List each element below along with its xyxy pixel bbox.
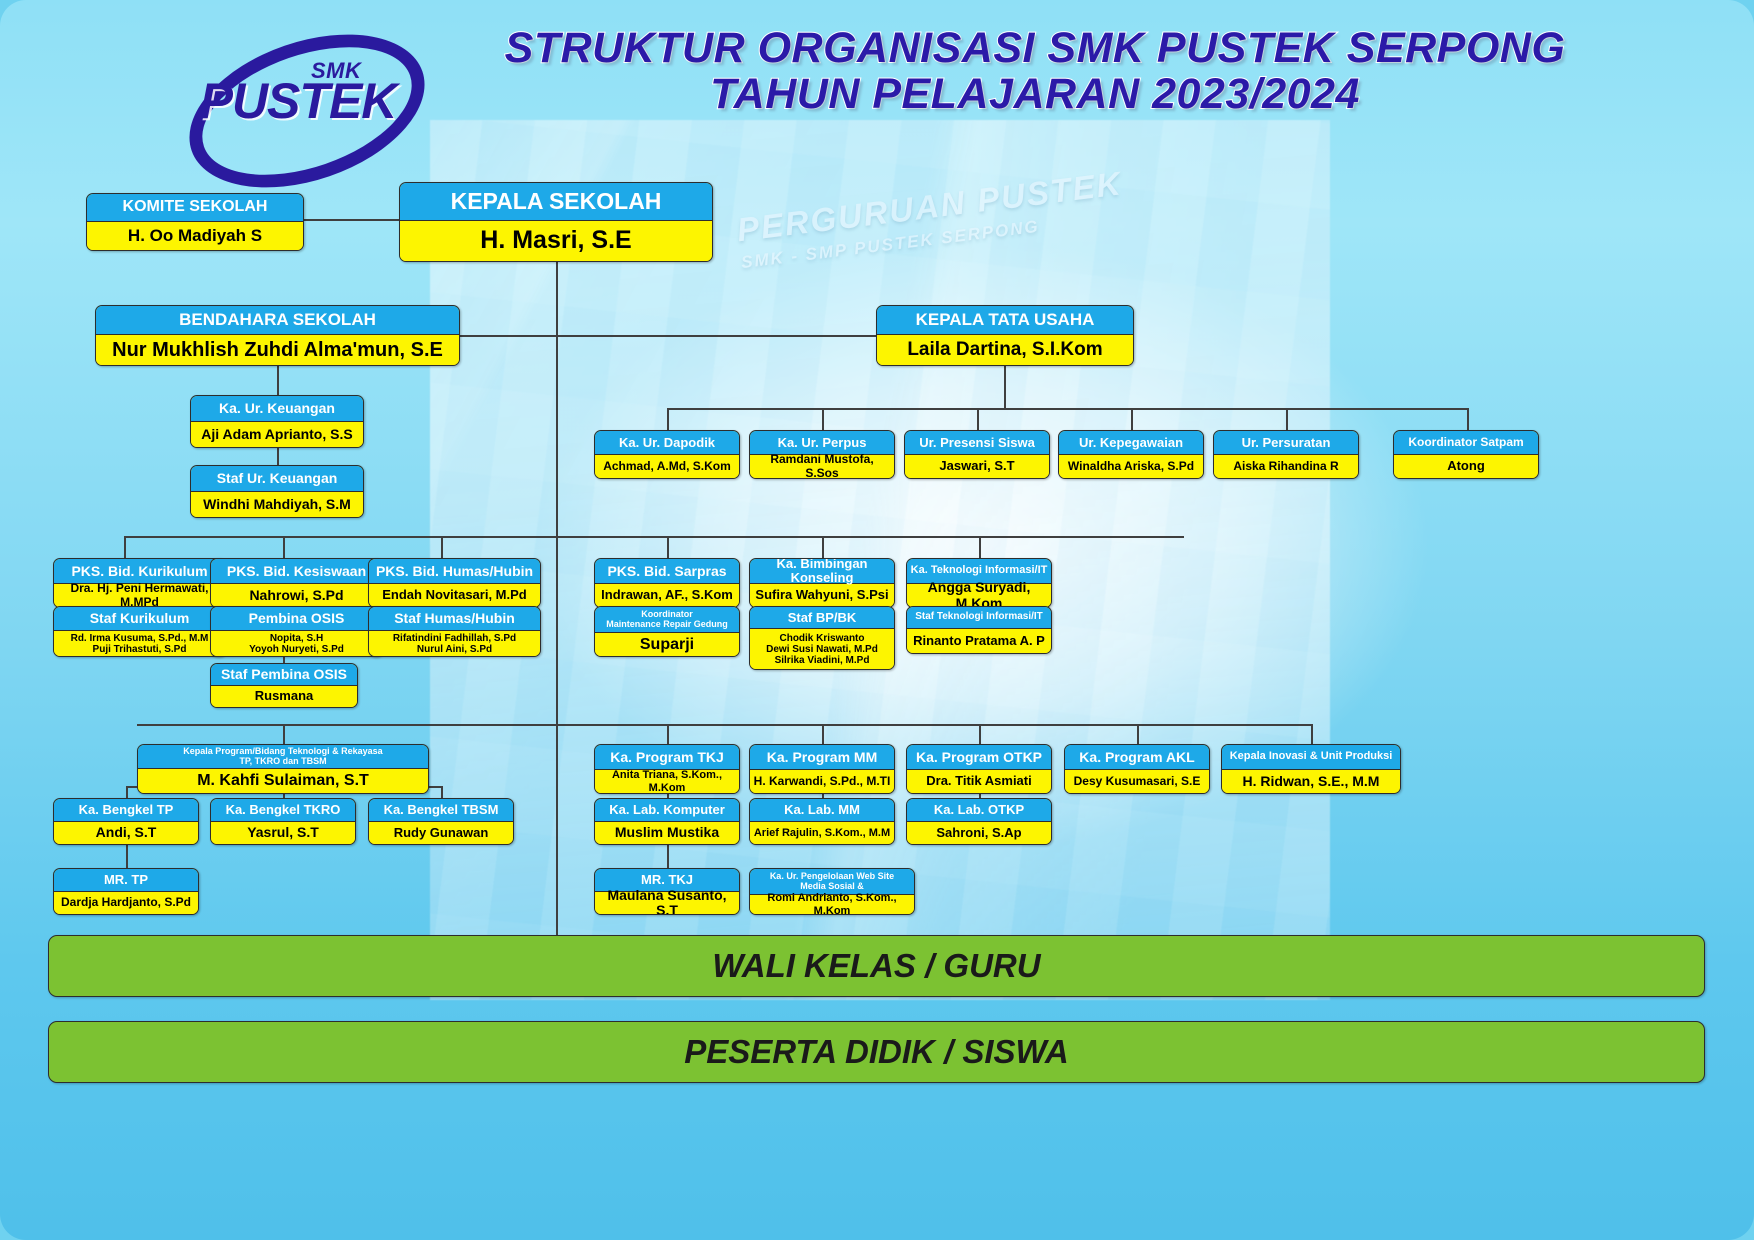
node-ka-bengkel-tp[interactable]: Ka. Bengkel TP Andi, S.T <box>53 798 199 845</box>
node-name: Anita Triana, S.Kom., M.Kom <box>595 770 739 793</box>
node-name: Indrawan, AF., S.Kom <box>595 584 739 607</box>
node-ka-lab-mm[interactable]: Ka. Lab. MM Arief Rajulin, S.Kom., M.M <box>749 798 895 845</box>
connector <box>1137 724 1139 744</box>
node-ur-presensi-siswa[interactable]: Ur. Presensi Siswa Jaswari, S.T <box>904 430 1050 479</box>
node-ur-kepegawaian[interactable]: Ur. Kepegawaian Winaldha Ariska, S.Pd <box>1058 430 1204 479</box>
node-pks-sarpras[interactable]: PKS. Bid. Sarpras Indrawan, AF., S.Kom <box>594 558 740 608</box>
node-title: Ka. Bengkel TKRO <box>211 799 355 822</box>
node-ka-ur-perpus[interactable]: Ka. Ur. Perpus Ramdani Mustofa, S.Sos <box>749 430 895 479</box>
node-name: Sahroni, S.Ap <box>907 822 1051 844</box>
band-wali-kelas-guru[interactable]: WALI KELAS / GURU <box>48 935 1705 997</box>
node-title: Staf Kurikulum <box>54 607 225 631</box>
connector <box>277 448 279 465</box>
node-title: Ur. Presensi Siswa <box>905 431 1049 455</box>
connector <box>283 536 285 558</box>
node-ka-bengkel-tbsm[interactable]: Ka. Bengkel TBSM Rudy Gunawan <box>368 798 514 845</box>
node-name-line: Silrika Viadini, M.Pd <box>775 655 870 666</box>
node-kepala-tata-usaha[interactable]: KEPALA TATA USAHA Laila Dartina, S.I.Kom <box>876 305 1134 366</box>
node-pembina-osis[interactable]: Pembina OSIS Nopita, S.H Yoyoh Nuryeti, … <box>210 606 383 657</box>
connector <box>667 724 669 744</box>
org-chart-canvas: PERGURUAN PUSTEK SMK - SMP PUSTEK SERPON… <box>0 0 1754 1240</box>
node-pks-humas-hubin[interactable]: PKS. Bid. Humas/Hubin Endah Novitasari, … <box>368 558 541 608</box>
connector <box>667 408 669 430</box>
node-name: Dardja Hardjanto, S.Pd <box>54 892 198 914</box>
connector <box>1286 408 1288 430</box>
node-staf-pembina-osis[interactable]: Staf Pembina OSIS Rusmana <box>210 663 358 708</box>
node-title: Koordinator Satpam <box>1394 431 1538 455</box>
page-title-line2: TAHUN PELAJARAN 2023/2024 <box>420 72 1650 118</box>
page-title: STRUKTUR ORGANISASI SMK PUSTEK SERPONG T… <box>420 26 1650 117</box>
node-name: Maulana Susanto, S.T <box>595 892 739 914</box>
node-name: Andi, S.T <box>54 822 198 844</box>
node-title: PKS. Bid. Humas/Hubin <box>369 559 540 584</box>
node-name: Atong <box>1394 455 1538 478</box>
node-name-line: Yoyoh Nuryeti, S.Pd <box>249 644 344 655</box>
node-name: Muslim Mustika <box>595 822 739 844</box>
node-ka-ur-keuangan[interactable]: Ka. Ur. Keuangan Aji Adam Aprianto, S.S <box>190 395 364 448</box>
connector <box>460 335 876 337</box>
node-ka-teknologi-informasi[interactable]: Ka. Teknologi Informasi/IT Angga Suryadi… <box>906 558 1052 608</box>
node-title: Ka. Program OTKP <box>907 745 1051 770</box>
node-name: Nahrowi, S.Pd <box>211 584 382 607</box>
node-ur-persuratan[interactable]: Ur. Persuratan Aiska Rihandina R <box>1213 430 1359 479</box>
node-kepala-inovasi-unit-produksi[interactable]: Kepala Inovasi & Unit Produksi H. Ridwan… <box>1221 744 1401 794</box>
photo-caption: PERGURUAN PUSTEK SMK - SMP PUSTEK SERPON… <box>735 159 1175 321</box>
node-ka-bimbingan-konseling[interactable]: Ka. Bimbingan Konseling Sufira Wahyuni, … <box>749 558 895 608</box>
node-title: Staf Pembina OSIS <box>211 664 357 686</box>
node-name: Aiska Rihandina R <box>1214 455 1358 478</box>
logo-smk-label: SMK <box>311 58 361 84</box>
node-name: Jaswari, S.T <box>905 455 1049 478</box>
node-staf-teknologi-informasi[interactable]: Staf Teknologi Informasi/IT Rinanto Prat… <box>906 606 1052 654</box>
connector <box>124 536 126 558</box>
node-ka-program-tkj[interactable]: Ka. Program TKJ Anita Triana, S.Kom., M.… <box>594 744 740 794</box>
connector <box>1311 724 1313 744</box>
node-name: Sufira Wahyuni, S.Psi <box>750 584 894 607</box>
connector <box>441 536 443 558</box>
connector <box>979 724 981 744</box>
node-name: Rusmana <box>211 686 357 707</box>
node-name: Nopita, S.H Yoyoh Nuryeti, S.Pd <box>211 631 382 656</box>
node-komite-sekolah[interactable]: KOMITE SEKOLAH H. Oo Madiyah S <box>86 193 304 251</box>
band-peserta-didik-siswa[interactable]: PESERTA DIDIK / SISWA <box>48 1021 1705 1083</box>
node-title-line: Media Sosial & <box>800 882 864 891</box>
node-ka-lab-otkp[interactable]: Ka. Lab. OTKP Sahroni, S.Ap <box>906 798 1052 845</box>
node-name: Dra. Titik Asmiati <box>907 770 1051 793</box>
node-ka-program-akl[interactable]: Ka. Program AKL Desy Kusumasari, S.E <box>1064 744 1210 794</box>
node-title: Ka. Ur. Dapodik <box>595 431 739 455</box>
node-ka-lab-komputer[interactable]: Ka. Lab. Komputer Muslim Mustika <box>594 798 740 845</box>
node-name: Rd. Irma Kusuma, S.Pd., M.M Puji Trihast… <box>54 631 225 656</box>
photo-caption-line1: PERGURUAN PUSTEK <box>735 159 1166 249</box>
node-title: Ka. Lab. MM <box>750 799 894 822</box>
node-name-line: Nopita, S.H <box>270 633 323 644</box>
node-name: H. Karwandi, S.Pd., M.TI <box>750 770 894 793</box>
node-name: Laila Dartina, S.I.Kom <box>877 335 1133 365</box>
connector <box>441 786 443 798</box>
node-staf-bp-bk[interactable]: Staf BP/BK Chodik Kriswanto Dewi Susi Na… <box>749 606 895 670</box>
node-name: Endah Novitasari, M.Pd <box>369 584 540 607</box>
node-name: Windhi Mahdiyah, S.M <box>191 492 363 517</box>
connector <box>304 219 402 221</box>
node-bendahara-sekolah[interactable]: BENDAHARA SEKOLAH Nur Mukhlish Zuhdi Alm… <box>95 305 460 366</box>
node-title: KEPALA TATA USAHA <box>877 306 1133 335</box>
connector <box>126 845 128 868</box>
connector <box>979 536 981 558</box>
node-pks-kesiswaan[interactable]: PKS. Bid. Kesiswaan Nahrowi, S.Pd <box>210 558 383 608</box>
node-title: Ur. Persuratan <box>1214 431 1358 455</box>
node-ka-program-mm[interactable]: Ka. Program MM H. Karwandi, S.Pd., M.TI <box>749 744 895 794</box>
node-name-line: Rifatindini Fadhillah, S.Pd <box>393 633 516 644</box>
node-title-line: TP, TKRO dan TBSM <box>239 757 326 766</box>
node-title: Ka. Ur. Keuangan <box>191 396 363 422</box>
node-name-line: Chodik Kriswanto <box>779 633 864 644</box>
connector <box>277 366 279 395</box>
node-name: Romi Andrianto, S.Kom., M.Kom <box>750 895 914 914</box>
connector <box>1131 408 1133 430</box>
node-kepala-sekolah[interactable]: KEPALA SEKOLAH H. Masri, S.E <box>399 182 713 262</box>
node-ka-program-otkp[interactable]: Ka. Program OTKP Dra. Titik Asmiati <box>906 744 1052 794</box>
connector <box>1467 408 1469 430</box>
node-name: Nur Mukhlish Zuhdi Alma'mun, S.E <box>96 335 459 365</box>
connector <box>667 845 669 868</box>
node-name: Winaldha Ariska, S.Pd <box>1059 455 1203 478</box>
node-ka-ur-dapodik[interactable]: Ka. Ur. Dapodik Achmad, A.Md, S.Kom <box>594 430 740 479</box>
node-title: Pembina OSIS <box>211 607 382 631</box>
node-staf-humas-hubin[interactable]: Staf Humas/Hubin Rifatindini Fadhillah, … <box>368 606 541 657</box>
connector <box>822 536 824 558</box>
node-name: Arief Rajulin, S.Kom., M.M <box>750 822 894 844</box>
node-title: Ka. Lab. Komputer <box>595 799 739 822</box>
node-name: H. Oo Madiyah S <box>87 222 303 250</box>
node-kepala-program-teknologi-rekayasa[interactable]: Kepala Program/Bidang Teknologi & Rekaya… <box>137 744 429 794</box>
node-title: PKS. Bid. Kesiswaan <box>211 559 382 584</box>
photo-caption-line2: SMK - SMP PUSTEK SERPONG <box>740 201 1169 273</box>
connector <box>126 786 128 798</box>
node-name: Achmad, A.Md, S.Kom <box>595 455 739 478</box>
node-title: MR. TP <box>54 869 198 892</box>
node-name: Rudy Gunawan <box>369 822 513 844</box>
node-staf-kurikulum[interactable]: Staf Kurikulum Rd. Irma Kusuma, S.Pd., M… <box>53 606 226 657</box>
node-title: Staf Ur. Keuangan <box>191 466 363 492</box>
node-ka-ur-pengelolaan-website[interactable]: Ka. Ur. Pengelolaan Web Site Media Sosia… <box>749 868 915 915</box>
logo-wordmark: PUSTEK <box>193 72 403 130</box>
node-title: Kepala Inovasi & Unit Produksi <box>1222 745 1400 770</box>
node-title: Staf Humas/Hubin <box>369 607 540 631</box>
node-name: Angga Suryadi, M.Kom <box>907 584 1051 607</box>
node-name-line: Puji Trihastuti, S.Pd <box>93 644 187 655</box>
node-title: KOMITE SEKOLAH <box>87 194 303 222</box>
node-title: Ka. Lab. OTKP <box>907 799 1051 822</box>
connector <box>667 536 669 558</box>
node-title-line: Maintenance Repair Gedung <box>606 620 728 629</box>
node-title: Ka. Bimbingan Konseling <box>750 559 894 584</box>
node-koordinator-satpam[interactable]: Koordinator Satpam Atong <box>1393 430 1539 479</box>
node-pks-kurikulum[interactable]: PKS. Bid. Kurikulum Dra. Hj. Peni Hermaw… <box>53 558 226 608</box>
node-name-line: Nurul Aini, S.Pd <box>417 644 492 655</box>
connector <box>556 262 558 936</box>
node-name: Ramdani Mustofa, S.Sos <box>750 455 894 478</box>
page-title-line1: STRUKTUR ORGANISASI SMK PUSTEK SERPONG <box>420 26 1650 72</box>
node-title: PKS. Bid. Kurikulum <box>54 559 225 584</box>
node-mr-tkj[interactable]: MR. TKJ Maulana Susanto, S.T <box>594 868 740 915</box>
pustek-logo: PUSTEK SMK <box>185 28 415 163</box>
node-name: Desy Kusumasari, S.E <box>1065 770 1209 793</box>
node-title: Ka. Ur. Pengelolaan Web Site Media Sosia… <box>750 869 914 895</box>
node-name: Aji Adam Aprianto, S.S <box>191 422 363 447</box>
node-name: Dra. Hj. Peni Hermawati, M.MPd <box>54 584 225 607</box>
node-name-line: Dewi Susi Nawati, M.Pd <box>766 644 878 655</box>
node-title: Ka. Program TKJ <box>595 745 739 770</box>
node-name: Rinanto Pratama A. P <box>907 629 1051 653</box>
node-mr-tp[interactable]: MR. TP Dardja Hardjanto, S.Pd <box>53 868 199 915</box>
connector <box>1004 366 1006 408</box>
node-title: Ka. Bengkel TBSM <box>369 799 513 822</box>
node-name: M. Kahfi Sulaiman, S.T <box>138 769 428 793</box>
node-title: Staf Teknologi Informasi/IT <box>907 607 1051 629</box>
node-title: Ka. Program MM <box>750 745 894 770</box>
node-koordinator-maintenance[interactable]: Koordinator Maintenance Repair Gedung Su… <box>594 606 740 657</box>
node-name: H. Masri, S.E <box>400 221 712 261</box>
node-name: Yasrul, S.T <box>211 822 355 844</box>
node-title: Ka. Bengkel TP <box>54 799 198 822</box>
node-title: PKS. Bid. Sarpras <box>595 559 739 584</box>
node-title: Kepala Program/Bidang Teknologi & Rekaya… <box>138 745 428 769</box>
node-title: Ka. Program AKL <box>1065 745 1209 770</box>
node-name: Chodik Kriswanto Dewi Susi Nawati, M.Pd … <box>750 629 894 669</box>
connector <box>137 724 1312 726</box>
connector <box>283 724 285 744</box>
node-name-line: Rd. Irma Kusuma, S.Pd., M.M <box>71 633 209 644</box>
node-title: BENDAHARA SEKOLAH <box>96 306 459 335</box>
node-staf-ur-keuangan[interactable]: Staf Ur. Keuangan Windhi Mahdiyah, S.M <box>190 465 364 518</box>
node-name: H. Ridwan, S.E., M.M <box>1222 770 1400 793</box>
connector <box>822 724 824 744</box>
connector <box>667 408 1467 410</box>
node-title: KEPALA SEKOLAH <box>400 183 712 221</box>
connector <box>822 408 824 430</box>
connector <box>977 408 979 430</box>
node-name: Rifatindini Fadhillah, S.Pd Nurul Aini, … <box>369 631 540 656</box>
node-title: Staf BP/BK <box>750 607 894 629</box>
node-title: Ur. Kepegawaian <box>1059 431 1203 455</box>
node-name: Suparji <box>595 633 739 656</box>
node-title: Koordinator Maintenance Repair Gedung <box>595 607 739 633</box>
node-ka-bengkel-tkro[interactable]: Ka. Bengkel TKRO Yasrul, S.T <box>210 798 356 845</box>
